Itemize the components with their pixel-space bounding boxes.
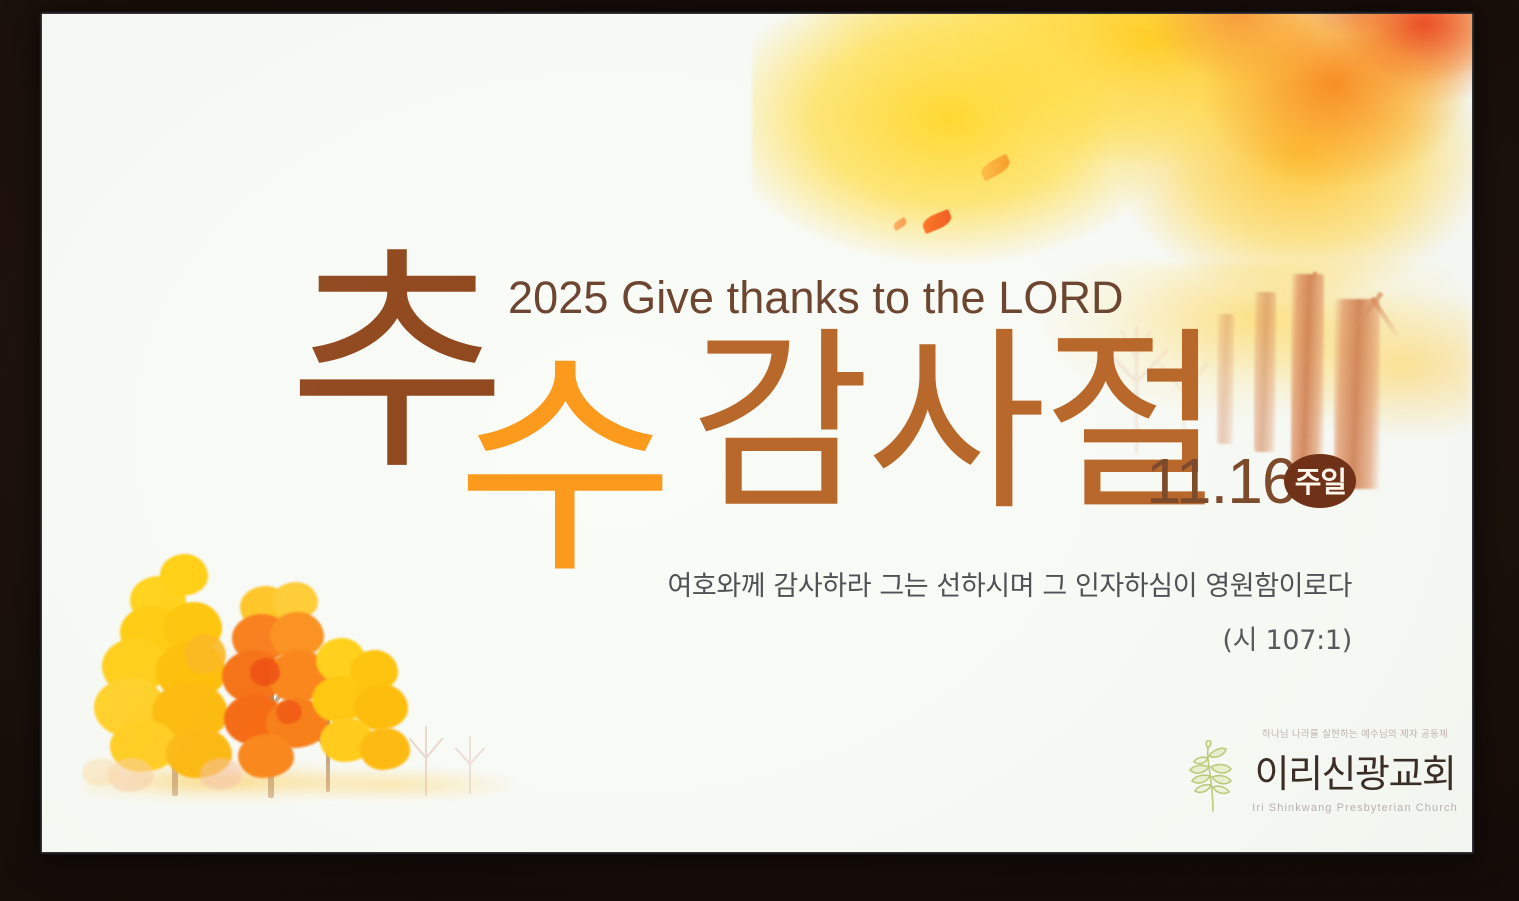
title-char-su: 수 (456, 350, 675, 588)
church-name-english: Iri Shinkwang Presbyterian Church (1248, 802, 1462, 814)
leaf-sprig-icon (1180, 740, 1246, 812)
presentation-slide: 2025 Give thanks to the LORD 추 수 감사절 11.… (42, 14, 1472, 852)
scripture-verse: 여호와께 감사하라 그는 선하시며 그 인자하심이 영원함이로다 (시 107:… (642, 570, 1352, 657)
church-logo-text: 하나님 나라를 실현하는 예수님의 제자 공동체 이리신광교회 Iri Shin… (1248, 726, 1462, 814)
slide-content: 2025 Give thanks to the LORD 추 수 감사절 11.… (42, 14, 1472, 852)
service-date: 11.16 주일 (1146, 444, 1356, 518)
date-number: 11.16 (1146, 444, 1296, 518)
title-gamsajeol: 감사절 (690, 326, 1219, 522)
verse-reference: (시 107:1) (642, 618, 1352, 657)
projection-wall: 2025 Give thanks to the LORD 추 수 감사절 11.… (0, 0, 1519, 901)
sunday-badge: 주일 (1284, 454, 1356, 508)
verse-text: 여호와께 감사하라 그는 선하시며 그 인자하심이 영원함이로다 (642, 570, 1352, 604)
church-name-korean: 이리신광교회 (1248, 743, 1462, 798)
church-logo: 하나님 나라를 실현하는 예수님의 제자 공동체 이리신광교회 Iri Shin… (1180, 726, 1462, 822)
church-tagline: 하나님 나라를 실현하는 예수님의 제자 공동체 (1248, 726, 1462, 740)
